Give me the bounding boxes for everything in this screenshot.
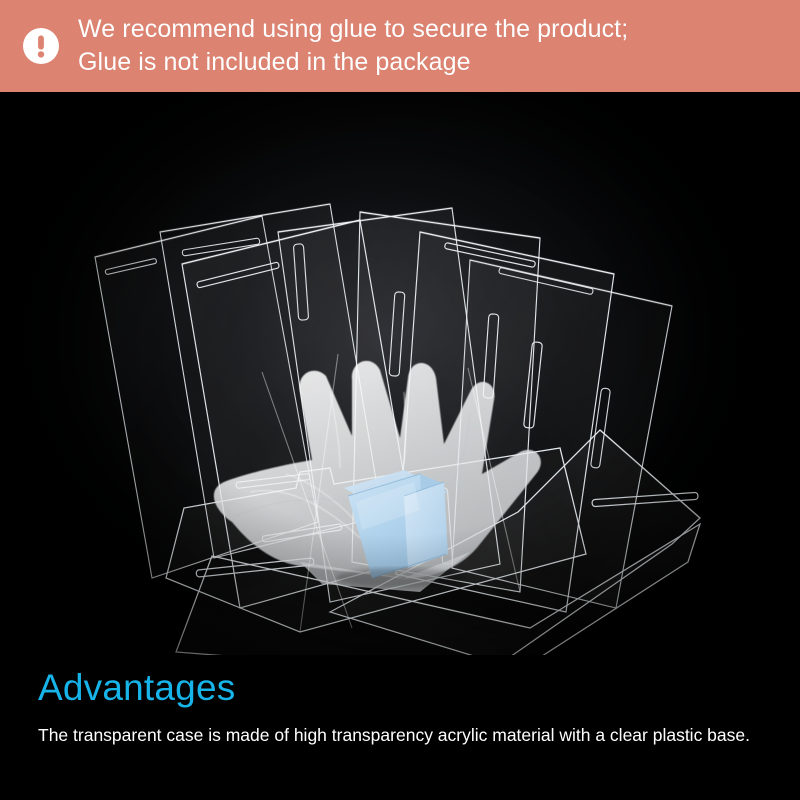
advantages-section: Advantages The transparent case is made …: [0, 655, 800, 800]
warning-banner-text: We recommend using glue to secure the pr…: [78, 13, 628, 79]
exclamation-circle-icon: [22, 27, 60, 65]
advantages-description: The transparent case is made of high tra…: [38, 720, 760, 750]
product-feature-image: We recommend using glue to secure the pr…: [0, 0, 800, 800]
acrylic-sheet-stack: [0, 92, 800, 662]
product-photo: [0, 92, 800, 662]
advantages-title: Advantages: [38, 665, 760, 711]
warning-banner: We recommend using glue to secure the pr…: [0, 0, 800, 92]
